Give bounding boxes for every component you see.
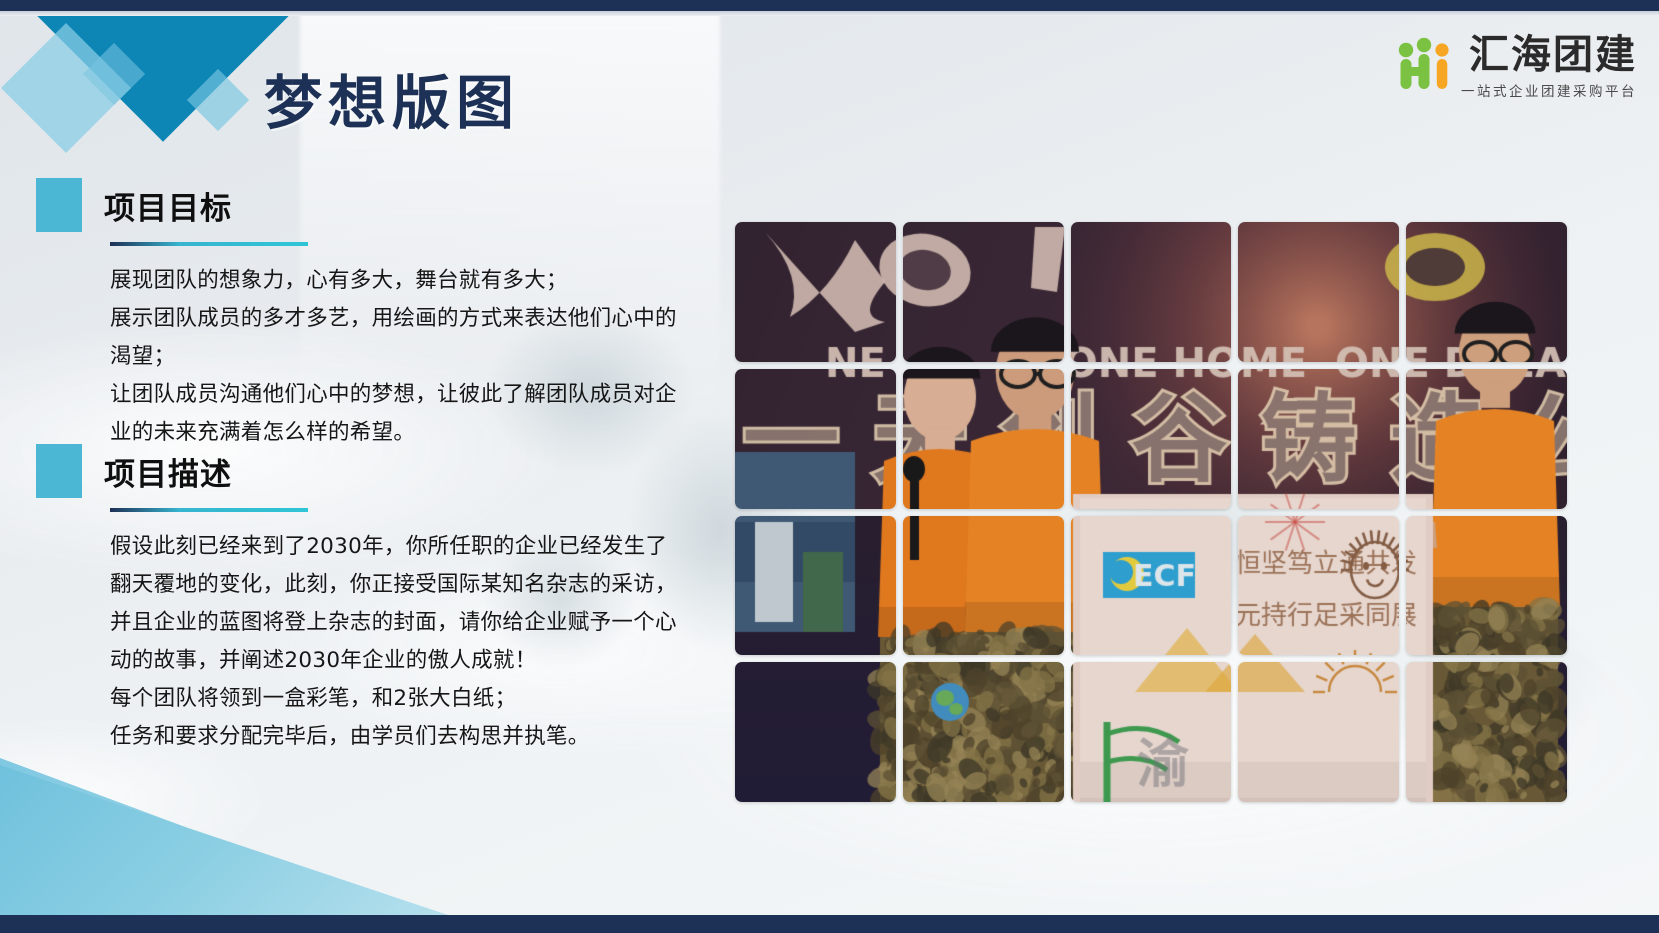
tile-16: [735, 662, 896, 802]
section-bullet-square: [36, 178, 82, 232]
tile-11: [735, 516, 896, 656]
tile-18: [1071, 662, 1232, 802]
tile-9: [1238, 369, 1399, 509]
brand-tagline: 一站式企业团建采购平台: [1461, 80, 1637, 100]
tile-6: [735, 369, 896, 509]
hi-mark-icon: [1393, 34, 1455, 96]
tile-14: [1238, 516, 1399, 656]
tile-image: [735, 662, 896, 802]
tile-image: [1238, 516, 1399, 656]
tile-image: [903, 516, 1064, 656]
tile-image: [1406, 222, 1567, 362]
tile-image: [1238, 222, 1399, 362]
section-bullet-square: [36, 444, 82, 498]
section-description-title: 项目描述: [104, 449, 232, 494]
tile-image: [1238, 369, 1399, 509]
tile-image: [1071, 369, 1232, 509]
tile-image: [1406, 369, 1567, 509]
tile-17: [903, 662, 1064, 802]
section-description-body: 假设此刻已经来到了2030年，你所任职的企业已经发生了翻天覆地的变化，此刻，你正…: [110, 528, 682, 756]
tile-15: [1406, 516, 1567, 656]
tile-image: [1071, 516, 1232, 656]
tile-13: [1071, 516, 1232, 656]
tile-image: [735, 516, 896, 656]
section-goal-title: 项目目标: [104, 183, 232, 228]
tile-image: [1406, 516, 1567, 656]
section-goal-body: 展现团队的想象力，心有多大，舞台就有多大； 展示团队成员的多才多艺，用绘画的方式…: [110, 262, 682, 452]
tile-image: [1238, 662, 1399, 802]
tile-5: [1406, 222, 1567, 362]
page-title: 梦想版图: [264, 56, 520, 140]
top-hairline: [0, 11, 1659, 16]
tile-image: [735, 222, 896, 362]
tile-3: [1071, 222, 1232, 362]
tile-image: [735, 369, 896, 509]
section-description-rule: [110, 508, 308, 512]
tile-20: [1406, 662, 1567, 802]
section-goal-rule: [110, 242, 308, 246]
tile-image: [1071, 662, 1232, 802]
brand-logo[interactable]: 汇海团建 一站式企业团建采购平台: [1393, 34, 1637, 100]
tile-image: [903, 662, 1064, 802]
section-description: 项目描述 假设此刻已经来到了2030年，你所任职的企业已经发生了翻天覆地的变化，…: [36, 444, 682, 756]
section-goal: 项目目标 展现团队的想象力，心有多大，舞台就有多大； 展示团队成员的多才多艺，用…: [36, 178, 682, 452]
bottom-navy-band: [0, 915, 1659, 933]
photo-mosaic: [735, 222, 1567, 802]
tile-19: [1238, 662, 1399, 802]
tile-8: [1071, 369, 1232, 509]
top-navy-band: [0, 0, 1659, 11]
tile-image: [1406, 662, 1567, 802]
tile-2: [903, 222, 1064, 362]
tile-10: [1406, 369, 1567, 509]
tile-4: [1238, 222, 1399, 362]
tile-image: [903, 369, 1064, 509]
tile-7: [903, 369, 1064, 509]
tile-image: [903, 222, 1064, 362]
tile-12: [903, 516, 1064, 656]
tile-image: [1071, 222, 1232, 362]
section-goal-header: 项目目标: [36, 178, 682, 232]
brand-name: 汇海团建: [1469, 34, 1637, 76]
tile-1: [735, 222, 896, 362]
section-description-header: 项目描述: [36, 444, 682, 498]
